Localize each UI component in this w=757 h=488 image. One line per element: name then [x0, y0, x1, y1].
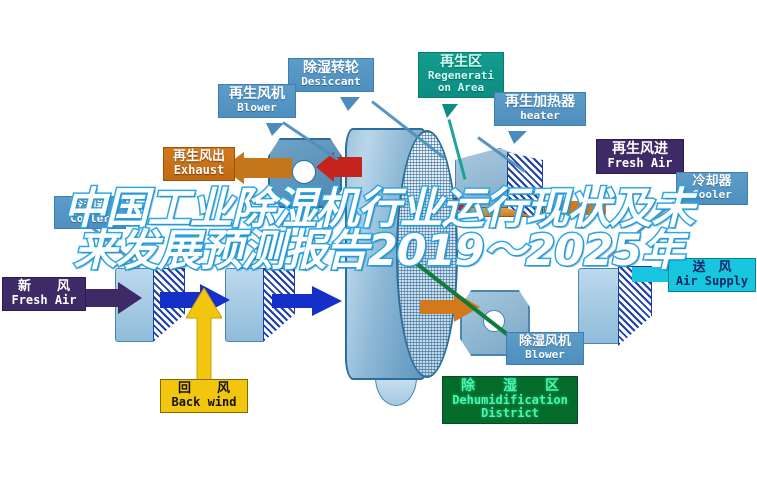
- label-regen-heater-tail: [508, 131, 527, 144]
- supply-coil-body: [578, 268, 620, 344]
- label-back-wind-cn: 回 风: [165, 382, 243, 396]
- label-regen-blower-en: Blower: [223, 102, 291, 114]
- label-regen-blower-cn: 再生风机: [223, 87, 291, 102]
- label-fresh-air[interactable]: 新 风 Fresh Air: [2, 277, 86, 311]
- fresh-air-arrow-icon: [84, 282, 142, 314]
- label-regen-blower-tail: [266, 123, 284, 136]
- label-dehum-district-cn: 除 湿 区: [447, 379, 573, 394]
- label-exhaust[interactable]: 再生风出 Exhaust: [163, 147, 235, 181]
- process-coil-body: [225, 268, 265, 342]
- label-dehum-district-en2: District: [447, 407, 573, 420]
- page-title-text: 中国工业除湿机行业运行现状及未来发展预测报告2019～2025年: [58, 188, 699, 272]
- process-air-arrow-2-icon: [272, 286, 342, 316]
- label-desiccant-tail: [340, 97, 360, 111]
- label-exhaust-cn: 再生风出: [168, 150, 230, 164]
- label-regeneration-area-tail: [442, 104, 458, 118]
- label-desiccant-en: Desiccant: [293, 76, 369, 88]
- regen-blower-hub: [292, 160, 316, 184]
- label-back-wind-en: Back wind: [165, 396, 243, 409]
- label-regen-fresh-air-en: Fresh Air: [601, 157, 679, 170]
- back-wind-arrow-icon: [186, 288, 222, 382]
- label-air-supply-en: Air Supply: [673, 275, 751, 288]
- label-fresh-air-en: Fresh Air: [7, 294, 81, 307]
- label-fresh-air-cn: 新 风: [7, 280, 81, 294]
- label-dehumidification-district[interactable]: 除 湿 区 Dehumidification District: [442, 376, 578, 424]
- label-dehum-blower[interactable]: 除湿风机 Blower: [506, 332, 584, 365]
- diagram-canvas: XT: [0, 0, 757, 488]
- label-regen-heater-cn: 再生加热器: [499, 95, 581, 110]
- label-regen-fresh-air[interactable]: 再生风进 Fresh Air: [596, 139, 684, 174]
- label-dehum-blower-en: Blower: [511, 349, 579, 361]
- label-desiccant-cn: 除湿转轮: [293, 61, 369, 76]
- label-desiccant[interactable]: 除湿转轮 Desiccant: [288, 58, 374, 92]
- label-regeneration-area[interactable]: 再生区 Regenerati on Area: [418, 52, 504, 98]
- label-regen-heater-en: heater: [499, 110, 581, 122]
- label-back-wind[interactable]: 回 风 Back wind: [160, 379, 248, 413]
- label-regeneration-area-cn: 再生区: [423, 55, 499, 70]
- regen-hot-arrow-icon: [316, 152, 362, 182]
- label-regen-blower[interactable]: 再生风机 Blower: [218, 84, 296, 118]
- label-exhaust-en: Exhaust: [168, 164, 230, 177]
- label-regen-heater[interactable]: 再生加热器 heater: [494, 92, 586, 126]
- label-dehum-blower-cn: 除湿风机: [511, 335, 579, 349]
- label-regen-fresh-air-cn: 再生风进: [601, 142, 679, 157]
- page-title: 中国工业除湿机行业运行现状及未来发展预测报告2019～2025年: [0, 188, 757, 272]
- label-regeneration-area-en2: on Area: [423, 82, 499, 94]
